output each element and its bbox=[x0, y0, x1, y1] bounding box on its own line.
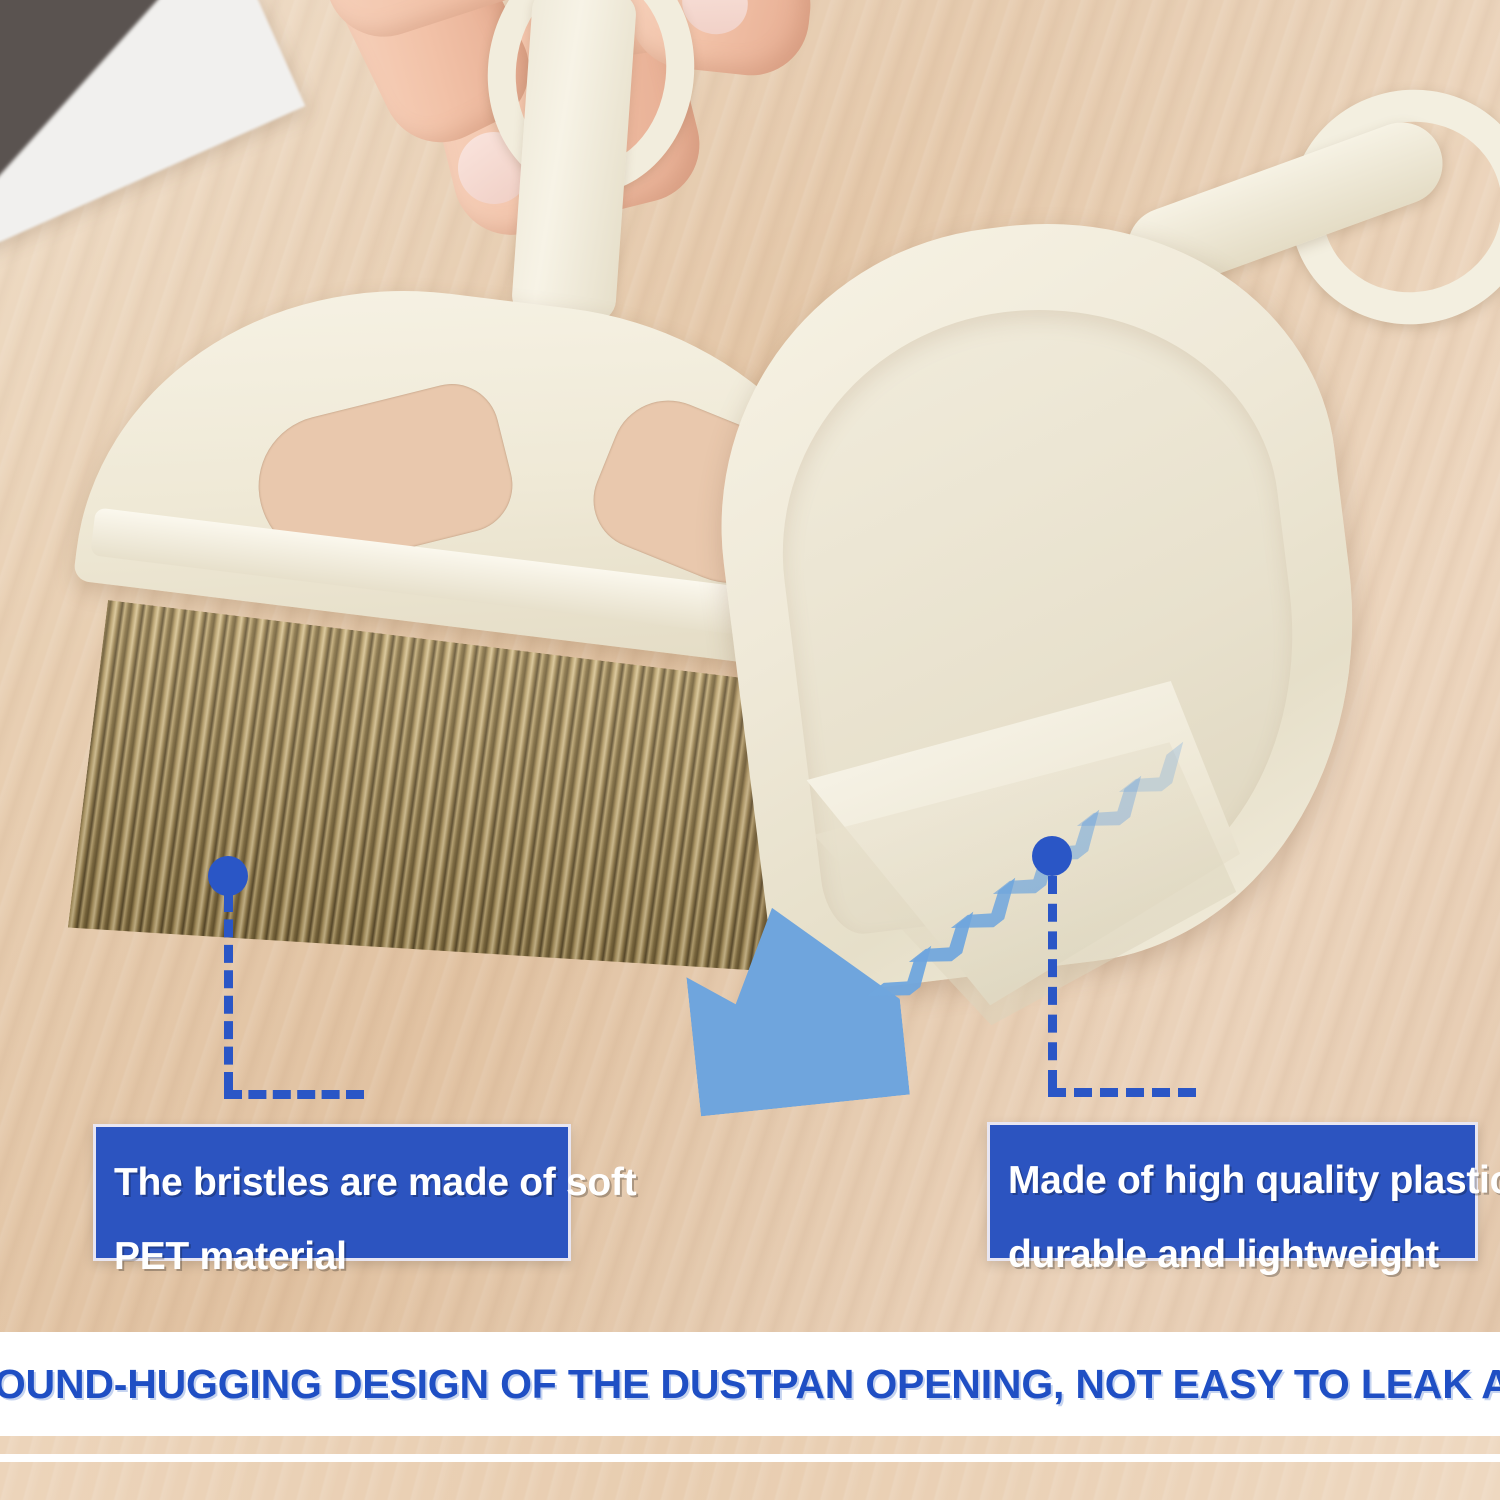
brush-handle bbox=[511, 0, 638, 323]
bristle-callout-dot bbox=[208, 856, 248, 896]
bristle-callout-line-2: PET material bbox=[114, 1227, 546, 1287]
decorative-strip-lower bbox=[0, 1462, 1500, 1500]
dustpan-callout-dot bbox=[1032, 836, 1072, 876]
bottom-banner: GROUND-HUGGING DESIGN OF THE DUSTPAN OPE… bbox=[0, 1332, 1500, 1436]
strip-gap bbox=[0, 1454, 1500, 1462]
product-infographic: The bristles are made of soft PET materi… bbox=[0, 0, 1500, 1500]
bristle-callout-box: The bristles are made of soft PET materi… bbox=[93, 1124, 571, 1261]
dustpan-callout-line-2: durable and lightweight bbox=[1008, 1225, 1453, 1285]
bristle-callout-vline bbox=[224, 894, 233, 1090]
arrow-head-icon bbox=[680, 896, 910, 1117]
bristle-callout-line-1: The bristles are made of soft bbox=[114, 1153, 546, 1213]
dustpan-callout-box: Made of high quality plastic, durable an… bbox=[987, 1122, 1478, 1261]
banner-headline: GROUND-HUGGING DESIGN OF THE DUSTPAN OPE… bbox=[0, 1361, 1500, 1408]
dustpan-callout-line-1: Made of high quality plastic, bbox=[1008, 1151, 1453, 1211]
dustpan-callout-hline bbox=[1048, 1088, 1196, 1097]
dustpan-callout-vline bbox=[1048, 876, 1057, 1088]
bristle-callout-hline bbox=[224, 1090, 364, 1099]
decorative-strip-upper bbox=[0, 1436, 1500, 1454]
